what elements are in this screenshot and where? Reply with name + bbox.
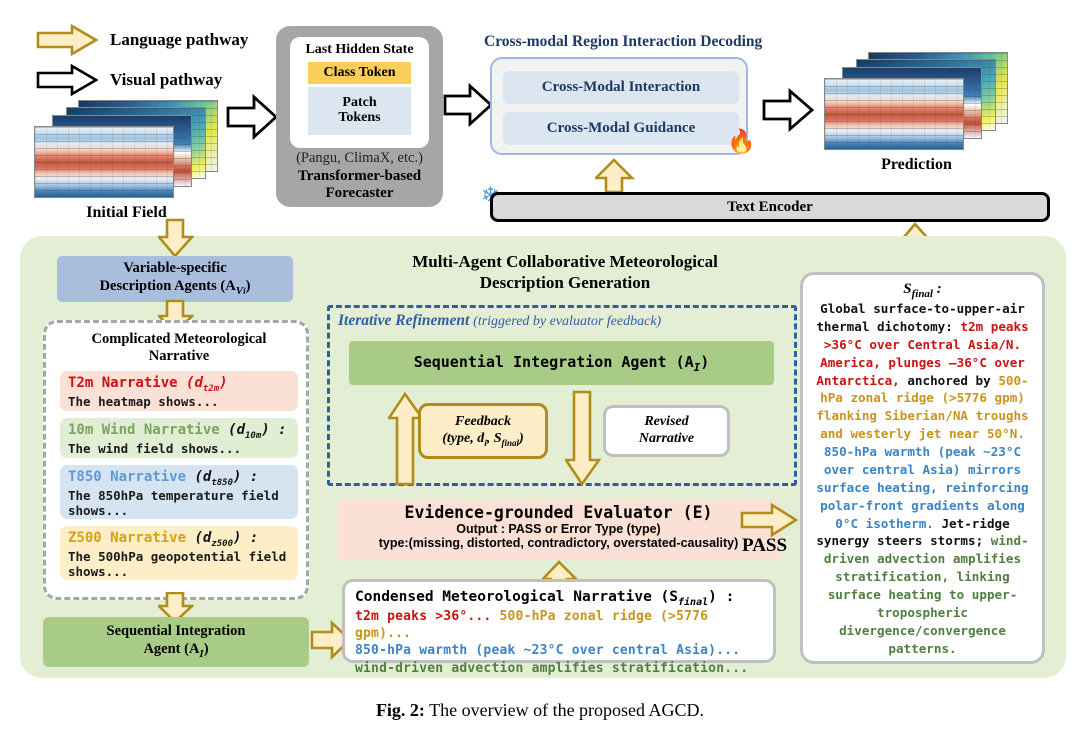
cross-modal-guidance-item[interactable]: Cross-Modal Guidance	[503, 112, 739, 145]
feedback-line1: Feedback	[455, 414, 511, 431]
arrow-forecaster-to-crossmodal-icon	[443, 83, 493, 127]
s-final-title: Sfinal :	[812, 281, 1033, 300]
cross-modal-title: Cross-modal Region Interaction Decoding	[484, 33, 762, 51]
figure-caption: Fig. 2: The overview of the proposed AGC…	[0, 700, 1080, 721]
cross-modal-decoder-box: Cross-Modal Interaction Cross-Modal Guid…	[490, 57, 748, 155]
legend-item-language: Language pathway	[36, 20, 248, 60]
sequential-integration-agent-left-box[interactable]: Sequential Integration Agent (AI)	[43, 617, 309, 667]
pass-status-badge: PASS	[742, 535, 787, 557]
condensed-narrative-line-3: wind-driven advection amplifies stratifi…	[355, 660, 763, 677]
patch-tokens-block: Patch Tokens	[308, 87, 411, 135]
narrative-item-z500[interactable]: Z500 Narrative (dz500) : The 500hPa geop…	[60, 526, 298, 580]
cn-title-line2: Narrative	[46, 348, 312, 365]
cross-modal-interaction-item[interactable]: Cross-Modal Interaction	[503, 71, 739, 104]
revised-line1: Revised	[644, 414, 688, 431]
narrative-body-10m-wind: The wind field shows...	[68, 441, 290, 456]
initial-field-map-1	[34, 126, 174, 198]
forecaster-examples: (Pangu, ClimaX, etc.)	[276, 150, 443, 167]
forecaster-name: Transformer-based Forecaster	[276, 168, 443, 202]
last-hidden-state-label: Last Hidden State	[305, 42, 413, 58]
revised-line2: Narrative	[639, 431, 694, 448]
s-final-text: Global surface-to-upper-air thermal dich…	[812, 300, 1033, 658]
condensed-narrative-title: Condensed Meteorological Narrative (Sfin…	[355, 589, 763, 608]
complicated-narrative-title: Complicated Meteorological Narrative	[46, 331, 312, 366]
revised-narrative-box[interactable]: Revised Narrative	[603, 405, 730, 457]
arrow-textencoder-to-crossmodal-icon	[595, 158, 635, 194]
narrative-head-t2m: T2m Narrative (dt2m)	[68, 375, 290, 394]
arrow-pass-icon	[740, 503, 798, 537]
prediction-map-1	[824, 78, 964, 150]
narrative-body-t850: The 850hPa temperature field shows...	[68, 488, 290, 518]
panel-title: Multi-Agent Collaborative Meteorological…	[330, 252, 800, 293]
patch-tokens-line2: Tokens	[338, 111, 380, 126]
s-final-segment-3: anchored by	[900, 373, 999, 388]
cn-title-line1: Complicated Meteorological	[46, 331, 312, 348]
class-token-block: Class Token	[308, 62, 411, 84]
text-encoder-block: Text Encoder	[490, 192, 1050, 222]
condensed-narrative-line-2: 850-hPa warmth (peak ~23°C over central …	[355, 642, 763, 659]
narrative-item-t2m[interactable]: T2m Narrative (dt2m) The heatmap shows..…	[60, 371, 298, 411]
arrow-right-icon	[36, 64, 98, 96]
condensed-narrative-box[interactable]: Condensed Meteorological Narrative (Sfin…	[342, 579, 776, 663]
evaluator-title: Evidence-grounded Evaluator (E)	[337, 503, 780, 522]
iter-title-main: Iterative Refinement	[338, 312, 469, 329]
feedback-box[interactable]: Feedback (type, di, Sfinal)	[418, 403, 548, 459]
last-hidden-state-card: Last Hidden State Class Token Patch Toke…	[290, 37, 429, 148]
iter-title-sub: (triggered by evaluator feedback)	[473, 314, 661, 329]
complicated-narrative-box: Complicated Meteorological Narrative T2m…	[43, 320, 309, 600]
initial-field-group: Initial Field	[34, 100, 219, 205]
legend-label-visual: Visual pathway	[110, 70, 222, 90]
narrative-body-z500: The 500hPa geopotential field shows...	[68, 549, 290, 579]
narrative-body-t2m: The heatmap shows...	[68, 394, 290, 409]
pathway-legend: Language pathway Visual pathway	[36, 20, 248, 100]
seq-agent-left-line2: Agent (AI)	[143, 640, 208, 662]
legend-label-language: Language pathway	[110, 30, 248, 50]
evaluator-types-line: type:(missing, distorted, contradictory,…	[337, 536, 780, 550]
panel-title-line2: Description Generation	[330, 273, 800, 294]
arrow-revised-down-icon	[565, 390, 601, 486]
condensed-narrative-line-1: t2m peaks >36°... 500-hPa zonal ridge (>…	[355, 608, 763, 643]
fire-icon: 🔥	[727, 130, 756, 153]
patch-tokens-line1: Patch	[342, 96, 376, 111]
evaluator-output-line: Output : PASS or Error Type (type)	[337, 522, 780, 536]
legend-item-visual: Visual pathway	[36, 60, 248, 100]
arrow-crossmodal-to-prediction-icon	[762, 88, 814, 132]
sequential-integration-agent-mid-box[interactable]: Sequential Integration Agent (AI)	[349, 341, 774, 385]
s-final-segment-7: wind-driven advection amplifies stratifi…	[824, 533, 1029, 655]
var-agents-line2: Description Agents (AVi)	[100, 277, 251, 299]
evidence-grounded-evaluator-box[interactable]: Evidence-grounded Evaluator (E) Output :…	[337, 500, 780, 560]
feedback-line2: (type, di, Sfinal)	[442, 431, 523, 449]
panel-title-line1: Multi-Agent Collaborative Meteorological	[330, 252, 800, 273]
caption-prefix: Fig. 2:	[376, 700, 425, 720]
iterative-refinement-title: Iterative Refinement (triggered by evalu…	[338, 312, 661, 330]
arrow-right-icon	[36, 24, 98, 56]
arrow-initialfield-to-varagents-icon	[158, 218, 194, 258]
caption-text: The overview of the proposed AGCD.	[425, 700, 704, 720]
narrative-item-10m-wind[interactable]: 10m Wind Narrative (d10m) : The wind fie…	[60, 418, 298, 458]
narrative-head-10m-wind: 10m Wind Narrative (d10m) :	[68, 422, 290, 441]
condensed-narrative-lines: t2m peaks >36°... 500-hPa zonal ridge (>…	[355, 608, 763, 677]
seq-agent-left-line1: Sequential Integration	[107, 622, 246, 640]
narrative-item-t850[interactable]: T850 Narrative (dt850) : The 850hPa temp…	[60, 465, 298, 519]
narrative-head-z500: Z500 Narrative (dz500) :	[68, 530, 290, 549]
prediction-map-stack	[824, 52, 1009, 152]
prediction-label: Prediction	[824, 156, 1009, 174]
s-final-box[interactable]: Sfinal : Global surface-to-upper-air the…	[800, 272, 1045, 664]
transformer-forecaster-block: Last Hidden State Class Token Patch Toke…	[276, 26, 443, 207]
var-agents-line1: Variable-specific	[123, 259, 226, 277]
forecaster-name-line2: Forecaster	[276, 185, 443, 202]
variable-specific-description-agents-box[interactable]: Variable-specific Description Agents (AV…	[57, 256, 293, 302]
forecaster-name-line1: Transformer-based	[276, 168, 443, 185]
arrow-initialfield-to-forecaster-icon	[226, 94, 278, 140]
narrative-head-t850: T850 Narrative (dt850) :	[68, 469, 290, 488]
initial-field-map-stack	[34, 100, 219, 200]
prediction-group: Prediction	[824, 52, 1009, 182]
